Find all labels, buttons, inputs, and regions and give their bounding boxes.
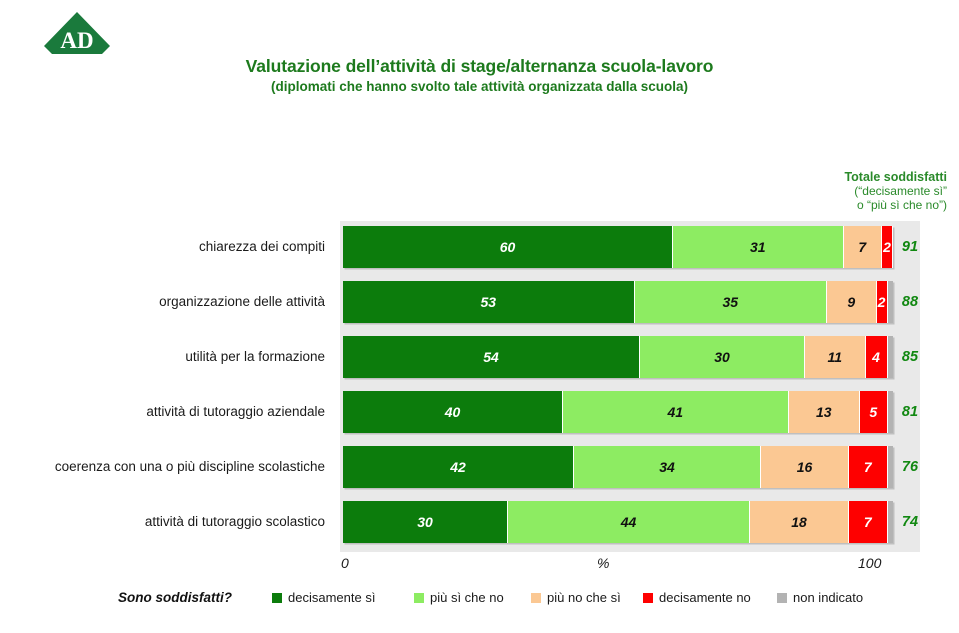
legend-item-non-indicato[interactable]: non indicato <box>777 588 863 608</box>
legend-swatch-icon <box>414 593 424 603</box>
bar-segment: 4 <box>866 336 888 378</box>
bar-segment: 7 <box>849 501 888 543</box>
title-block: Valutazione dell’attività di stage/alter… <box>0 55 959 96</box>
totals-column-header: Totale soddisfatti (“decisamente sì” o “… <box>757 170 947 212</box>
table-row: attività di tutoraggio scolastico3044187… <box>0 501 959 543</box>
legend-item-piu-no-che-si[interactable]: più no che sì <box>531 588 621 608</box>
legend-swatch-icon <box>643 593 653 603</box>
table-row: organizzazione delle attività53359288 <box>0 281 959 323</box>
ad-logo: AD <box>40 10 114 58</box>
category-label: attività di tutoraggio aziendale <box>0 391 325 433</box>
bar-segment: 44 <box>508 501 750 543</box>
totals-header-line2: (“decisamente sì” <box>757 184 947 198</box>
legend: Sono soddisfatti? decisamente sì più sì … <box>0 588 959 612</box>
legend-item-label: non indicato <box>793 590 863 605</box>
category-label: chiarezza dei compiti <box>0 226 325 268</box>
bar-segment: 7 <box>849 446 888 488</box>
table-row: attività di tutoraggio aziendale40411358… <box>0 391 959 433</box>
bar-segment: 7 <box>844 226 883 268</box>
bar-segment: 9 <box>827 281 877 323</box>
bar-segment: 40 <box>343 391 563 433</box>
stacked-bar: 3044187 <box>343 501 893 543</box>
category-label: coerenza con una o più discipline scolas… <box>0 446 325 488</box>
bar-segment: 42 <box>343 446 574 488</box>
bar-segment: 41 <box>563 391 789 433</box>
bar-segment: 16 <box>761 446 849 488</box>
legend-item-label: più sì che no <box>430 590 504 605</box>
totals-header-line1: Totale soddisfatti <box>757 170 947 184</box>
page-subtitle: (diplomati che hanno svolto tale attivit… <box>0 78 959 96</box>
legend-item-label: decisamente sì <box>288 590 375 605</box>
bar-segment: 54 <box>343 336 640 378</box>
bar-segment: 2 <box>882 226 893 268</box>
bar-segment: 35 <box>635 281 828 323</box>
bar-segment: 30 <box>640 336 805 378</box>
category-label: attività di tutoraggio scolastico <box>0 501 325 543</box>
stacked-bar: 603172 <box>343 226 893 268</box>
legend-swatch-icon <box>531 593 541 603</box>
page-title: Valutazione dell’attività di stage/alter… <box>0 55 959 77</box>
table-row: utilità per la formazione543011485 <box>0 336 959 378</box>
category-label: utilità per la formazione <box>0 336 325 378</box>
stacked-bar: 4234167 <box>343 446 893 488</box>
totals-header-line3: o “più sì che no”) <box>757 198 947 212</box>
bar-rows: chiarezza dei compiti60317291organizzazi… <box>0 221 959 552</box>
row-total-value: 76 <box>893 446 927 488</box>
category-label: organizzazione delle attività <box>0 281 325 323</box>
bar-segment: 18 <box>750 501 849 543</box>
axis-tick-0: 0 <box>341 552 349 574</box>
legend-item-label: più no che sì <box>547 590 621 605</box>
row-total-value: 91 <box>893 226 927 268</box>
bar-segment: 13 <box>789 391 861 433</box>
legend-item-decisamente-no[interactable]: decisamente no <box>643 588 751 608</box>
axis-label-percent: % <box>597 552 609 574</box>
table-row: chiarezza dei compiti60317291 <box>0 226 959 268</box>
svg-text:AD: AD <box>60 28 93 53</box>
legend-swatch-icon <box>272 593 282 603</box>
bar-segment: 31 <box>673 226 844 268</box>
legend-item-decisamente-si[interactable]: decisamente sì <box>272 588 375 608</box>
bar-segment: 34 <box>574 446 761 488</box>
legend-question: Sono soddisfatti? <box>118 588 232 608</box>
legend-item-label: decisamente no <box>659 590 751 605</box>
legend-item-piu-si-che-no[interactable]: più sì che no <box>414 588 504 608</box>
axis-tick-100: 100 <box>858 552 881 574</box>
bar-segment: 5 <box>860 391 888 433</box>
table-row: coerenza con una o più discipline scolas… <box>0 446 959 488</box>
stacked-bar: 533592 <box>343 281 893 323</box>
bar-segment: 30 <box>343 501 508 543</box>
row-total-value: 74 <box>893 501 927 543</box>
legend-swatch-icon <box>777 593 787 603</box>
x-axis: 0 % 100 <box>0 552 959 574</box>
row-total-value: 81 <box>893 391 927 433</box>
bar-segment: 11 <box>805 336 866 378</box>
bar-segment: 2 <box>877 281 888 323</box>
bar-segment: 60 <box>343 226 673 268</box>
row-total-value: 85 <box>893 336 927 378</box>
stacked-bar: 5430114 <box>343 336 893 378</box>
row-total-value: 88 <box>893 281 927 323</box>
stacked-bar: 4041135 <box>343 391 893 433</box>
bar-segment: 53 <box>343 281 635 323</box>
